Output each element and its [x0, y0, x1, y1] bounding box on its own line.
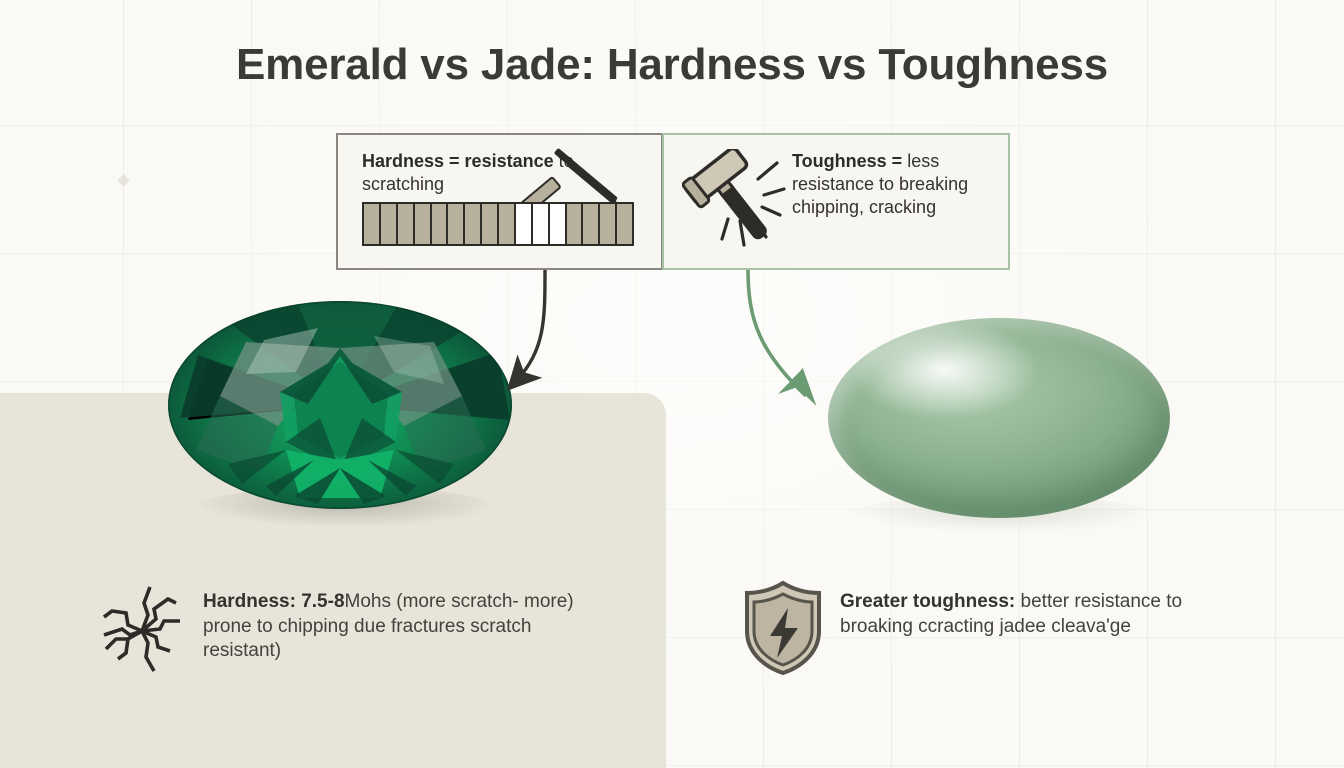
emerald-caption: Hardness: 7.5-8Mohs (more scratch- more)… — [203, 590, 598, 664]
arrow-hardness-to-emerald — [516, 270, 545, 381]
scratch-segment — [398, 204, 415, 244]
scratch-segment — [364, 204, 381, 244]
toughness-definition-text: Toughness = less resistance to breaking … — [792, 150, 997, 219]
hardness-definition-bold: Hardness = resistance — [362, 151, 554, 171]
emerald-gemstone — [168, 300, 513, 510]
scratch-segment — [583, 204, 600, 244]
scratch-segment — [482, 204, 499, 244]
jade-caption: Greater toughness: better resistance to … — [840, 590, 1250, 639]
hardness-definition-box: Hardness = resistance to scratching — [336, 133, 663, 270]
scratch-segment — [465, 204, 482, 244]
scratch-segment — [617, 204, 632, 244]
scratch-segment — [448, 204, 465, 244]
scratch-segment — [567, 204, 584, 244]
toughness-definition-bold: Toughness = — [792, 151, 902, 171]
scratch-segment — [499, 204, 516, 244]
scratch-segment — [381, 204, 398, 244]
arrow-toughness-to-jade — [748, 270, 806, 396]
scratch-test-bar — [362, 202, 634, 246]
page-title: Emerald vs Jade: Hardness vs Toughness — [0, 40, 1344, 90]
scratch-segment — [432, 204, 449, 244]
grid-node-icon — [117, 174, 130, 187]
scratch-segment-empty — [550, 204, 567, 244]
crack-fracture-icon — [98, 585, 184, 675]
jade-caption-bold: Greater toughness: — [840, 591, 1015, 612]
hammer-impact-icon — [682, 149, 790, 257]
scratch-segment-empty — [533, 204, 550, 244]
infographic-canvas: Emerald vs Jade: Hardness vs Toughness — [0, 0, 1344, 768]
shield-bolt-icon — [742, 580, 824, 676]
toughness-definition-box: Toughness = less resistance to breaking … — [662, 133, 1010, 270]
jade-cabochon — [828, 318, 1170, 518]
scratch-segment — [600, 204, 617, 244]
emerald-caption-bold: Hardness: 7.5-8 — [203, 591, 345, 612]
scratch-segment-empty — [516, 204, 533, 244]
scratch-segment — [415, 204, 432, 244]
